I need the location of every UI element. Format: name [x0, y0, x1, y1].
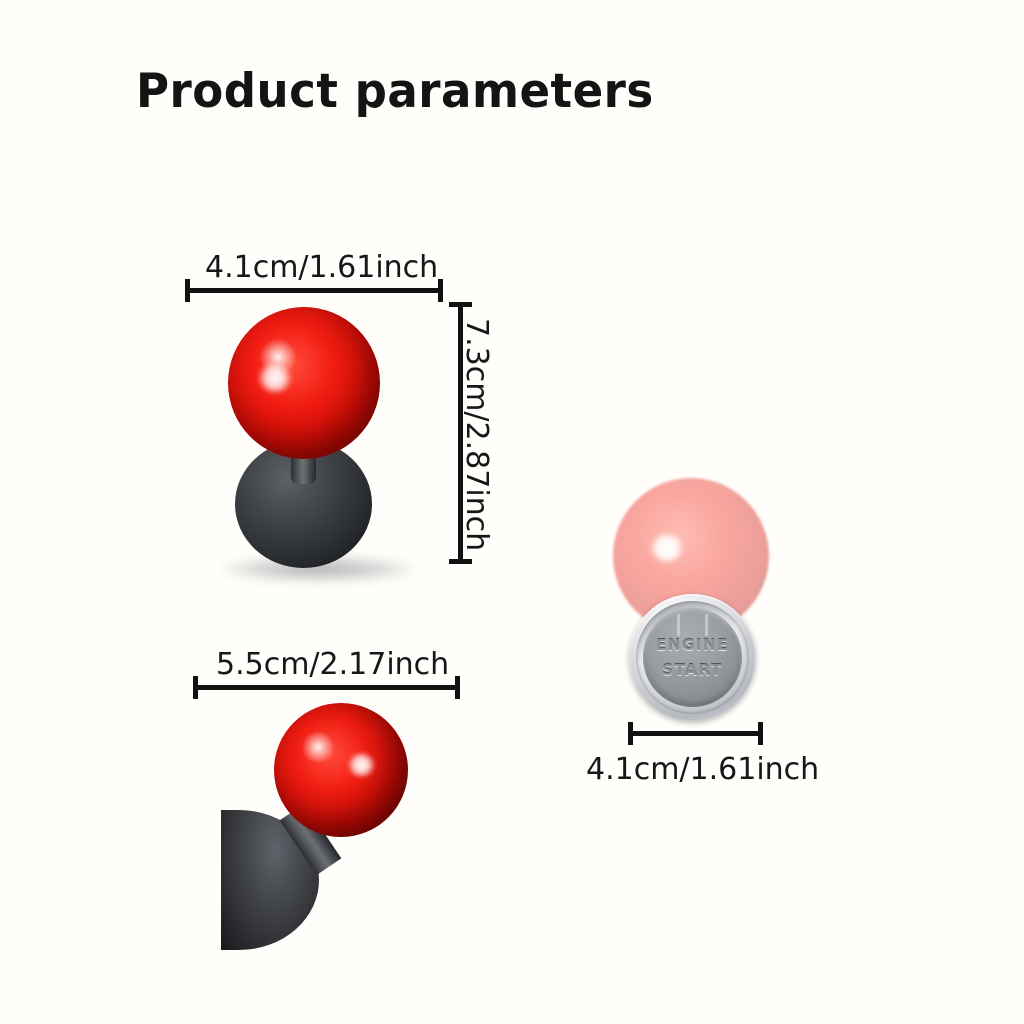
dimension-label-width-41cm: 4.1cm/1.61inch	[205, 250, 438, 285]
dimension-label-height-73cm: 7.3cm/2.87inch	[459, 318, 494, 551]
dimension-line-width-55cm	[193, 685, 460, 690]
bezel-tick-right	[705, 614, 708, 636]
start-label: START	[662, 661, 723, 679]
engine-label: ENGINE	[656, 636, 729, 654]
dimension-label-width-41cm-button: 4.1cm/1.61inch	[586, 752, 819, 787]
engine-start-button[interactable]: ENGINE START	[629, 594, 756, 721]
dimension-line-width-41cm-button	[628, 731, 763, 736]
page-title: Product parameters	[136, 64, 654, 119]
red-ball-knob	[228, 307, 380, 459]
dimension-label-width-55cm: 5.5cm/2.17inch	[216, 647, 449, 682]
dimension-line-width-41cm	[185, 288, 443, 293]
specular-highlight	[348, 753, 375, 777]
bezel-tick-left	[677, 614, 680, 636]
product-parameters-image: Product parameters 4.1cm/1.61inch 7.3cm/…	[0, 0, 1024, 1024]
button-face: ENGINE START	[643, 608, 742, 707]
red-ball-knob	[274, 703, 408, 837]
specular-highlight	[651, 534, 683, 562]
specular-highlight	[258, 363, 292, 393]
